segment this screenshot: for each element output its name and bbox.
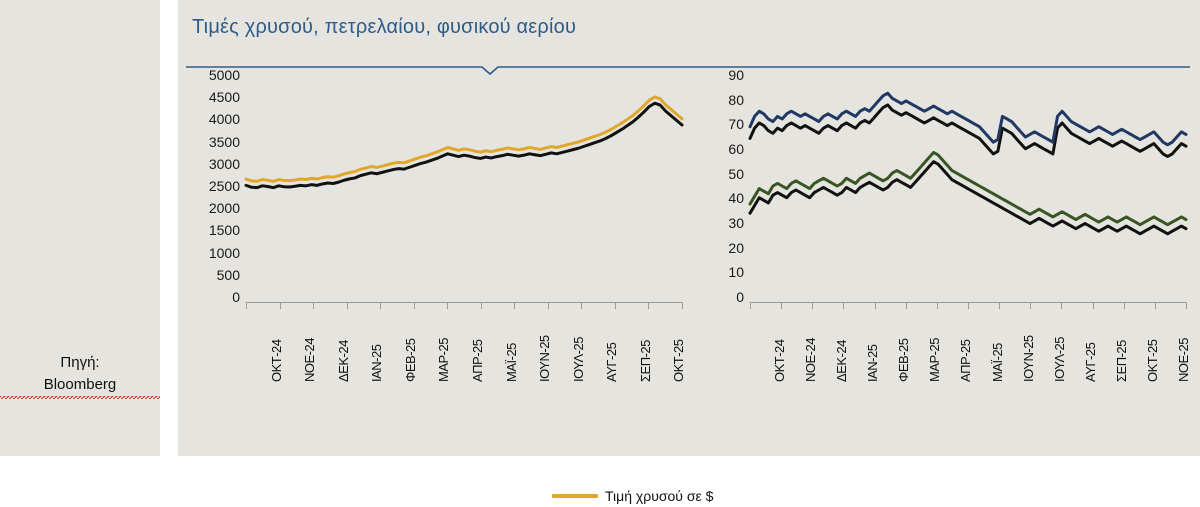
x-tick [380,302,381,309]
x-tick [1186,302,1187,309]
x-tick [750,302,751,309]
x-tick-label: ΝΟΕ-24 [803,338,818,382]
gold-chart: 5000450040003500300025002000150010005000… [186,70,686,380]
x-tick-label: ΟΚΤ-25 [1145,339,1160,382]
series-line [246,97,682,181]
y-tick-label: 2000 [209,203,240,213]
x-tick [906,302,907,309]
x-tick [968,302,969,309]
x-tick [447,302,448,309]
y-tick-label: 2500 [209,181,240,191]
gold-chart-plot [246,70,682,302]
y-tick-label: 60 [728,144,744,154]
x-tick [875,302,876,309]
x-tick [937,302,938,309]
y-tick-label: 3000 [209,159,240,169]
x-tick [481,302,482,309]
x-tick-label: ΦΕΒ-25 [896,338,911,382]
x-tick-label: ΟΚΤ-25 [671,339,686,382]
y-tick-label: 0 [736,292,744,302]
y-tick-label: 3500 [209,137,240,147]
legend-label-gold: Τιμή χρυσού σε $ [605,488,713,504]
gold-line-swatch [552,494,598,498]
x-tick [843,302,844,309]
x-tick [581,302,582,309]
y-tick-label: 90 [728,70,744,80]
x-tick-label: ΜΑΡ-25 [436,338,451,382]
x-tick [648,302,649,309]
slide-root: Πηγή: Bloomberg Τιμές χρυσού, πετρελαίου… [0,0,1200,456]
x-tick-label: ΜΑΡ-25 [927,338,942,382]
x-tick-label: ΑΥΓ-25 [1083,343,1098,382]
x-tick [781,302,782,309]
x-tick-label: ΙΟΥΛ-25 [571,337,586,382]
x-tick [347,302,348,309]
x-tick-label: ΟΚΤ-24 [269,339,284,382]
y-tick-label: 80 [728,95,744,105]
x-tick-label: ΙΑΝ-25 [865,345,880,382]
page-title: Τιμές χρυσού, πετρελαίου, φυσικού αερίου [192,16,576,39]
source-value: Bloomberg [0,374,160,399]
x-tick [999,302,1000,309]
x-tick [1155,302,1156,309]
x-tick-label: ΜΑΪ-25 [504,343,519,382]
x-tick [280,302,281,309]
x-tick-label: ΔΕΚ-24 [834,340,849,382]
x-tick [514,302,515,309]
x-tick [548,302,549,309]
x-tick-label: ΑΠΡ-25 [470,339,485,382]
y-tick-label: 50 [728,169,744,179]
x-tick-label: ΙΑΝ-25 [369,345,384,382]
x-tick-label: ΑΥΓ-25 [604,343,619,382]
energy-chart-svg [750,70,1186,302]
energy-chart-xaxis [750,302,1186,310]
gold-chart-yaxis-labels: 5000450040003500300025002000150010005000 [186,70,240,302]
x-tick [1093,302,1094,309]
x-tick-label: ΣΕΠ-25 [1114,340,1129,382]
energy-chart: 9080706050403020100 ΟΚΤ-24ΝΟΕ-24ΔΕΚ-24ΙΑ… [690,70,1190,380]
series-line [750,93,1186,145]
energy-chart-xaxis-labels: ΟΚΤ-24ΝΟΕ-24ΔΕΚ-24ΙΑΝ-25ΦΕΒ-25ΜΑΡ-25ΑΠΡ-… [750,312,1186,382]
gold-chart-legend: Τιμή χρυσού σε $ [552,485,713,507]
y-tick-label: 10 [728,267,744,277]
series-line [246,103,682,187]
y-tick-label: 0 [232,292,240,302]
y-tick-label: 40 [728,193,744,203]
x-tick-label: ΙΟΥΛ-25 [1052,337,1067,382]
x-tick-label: ΔΕΚ-24 [336,340,351,382]
energy-chart-yaxis-labels: 9080706050403020100 [690,70,744,302]
y-tick-label: 4000 [209,114,240,124]
x-tick [615,302,616,309]
x-tick-label: ΑΠΡ-25 [958,339,973,382]
y-tick-label: 20 [728,243,744,253]
y-tick-label: 1000 [209,248,240,258]
x-tick [682,302,683,309]
source-label: Πηγή: [0,352,160,374]
x-tick [1124,302,1125,309]
y-tick-label: 1500 [209,225,240,235]
series-line [750,162,1186,234]
x-tick [1030,302,1031,309]
x-tick [313,302,314,309]
gold-chart-svg [246,70,682,302]
x-tick-label: ΣΕΠ-25 [638,340,653,382]
x-tick-label: ΦΕΒ-25 [403,338,418,382]
y-tick-label: 500 [217,270,240,280]
gold-chart-xaxis-labels: ΟΚΤ-24ΝΟΕ-24ΔΕΚ-24ΙΑΝ-25ΦΕΒ-25ΜΑΡ-25ΑΠΡ-… [246,312,682,382]
x-tick-label: ΝΟΕ-24 [302,338,317,382]
legend-item-gold: Τιμή χρυσού σε $ [552,485,713,507]
gold-chart-xaxis [246,302,682,310]
x-tick [812,302,813,309]
y-tick-label: 30 [728,218,744,228]
y-tick-label: 4500 [209,92,240,102]
source-note: Πηγή: Bloomberg [0,352,160,399]
x-tick [1061,302,1062,309]
x-tick-label: ΙΟΥΝ-25 [1021,335,1036,382]
energy-chart-plot [750,70,1186,302]
x-tick-label: ΜΑΪ-25 [990,343,1005,382]
y-tick-label: 70 [728,119,744,129]
x-tick-label: ΝΟΕ-25 [1176,338,1191,382]
y-tick-label: 5000 [209,70,240,80]
x-tick [246,302,247,309]
x-tick-label: ΟΚΤ-24 [772,339,787,382]
x-tick [414,302,415,309]
x-tick-label: ΙΟΥΝ-25 [537,335,552,382]
